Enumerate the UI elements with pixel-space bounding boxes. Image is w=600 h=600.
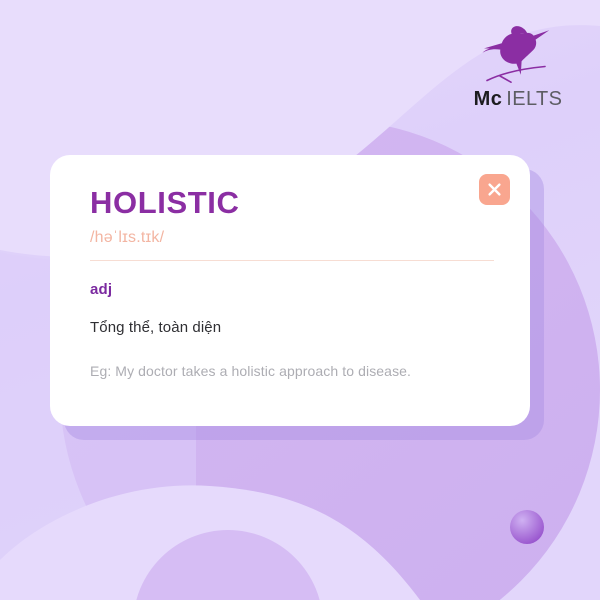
brand-name-bold: Mc: [474, 88, 503, 110]
brand-wordmark: McIELTS: [474, 89, 563, 109]
close-x-icon: [487, 182, 502, 197]
part-of-speech: adj: [90, 281, 492, 298]
hummingbird-icon: [479, 24, 557, 86]
branch-twig-icon: [500, 76, 511, 82]
vocabulary-card: HOLISTIC /həˈlɪs.tɪk/ adj Tổng thể, toàn…: [50, 155, 530, 426]
brand-logo: McIELTS: [464, 24, 572, 109]
word-title: HOLISTIC: [90, 187, 492, 220]
word-phonetic: /həˈlɪs.tɪk/: [90, 229, 492, 247]
close-button[interactable]: [479, 174, 510, 205]
brand-name-light: IELTS: [506, 88, 562, 110]
word-example: Eg: My doctor takes a holistic approach …: [90, 363, 492, 379]
word-meaning: Tổng thể, toàn diện: [90, 319, 492, 336]
branch-icon: [487, 67, 545, 81]
card-divider: [90, 260, 494, 261]
purple-gradient-sphere: [510, 510, 544, 544]
